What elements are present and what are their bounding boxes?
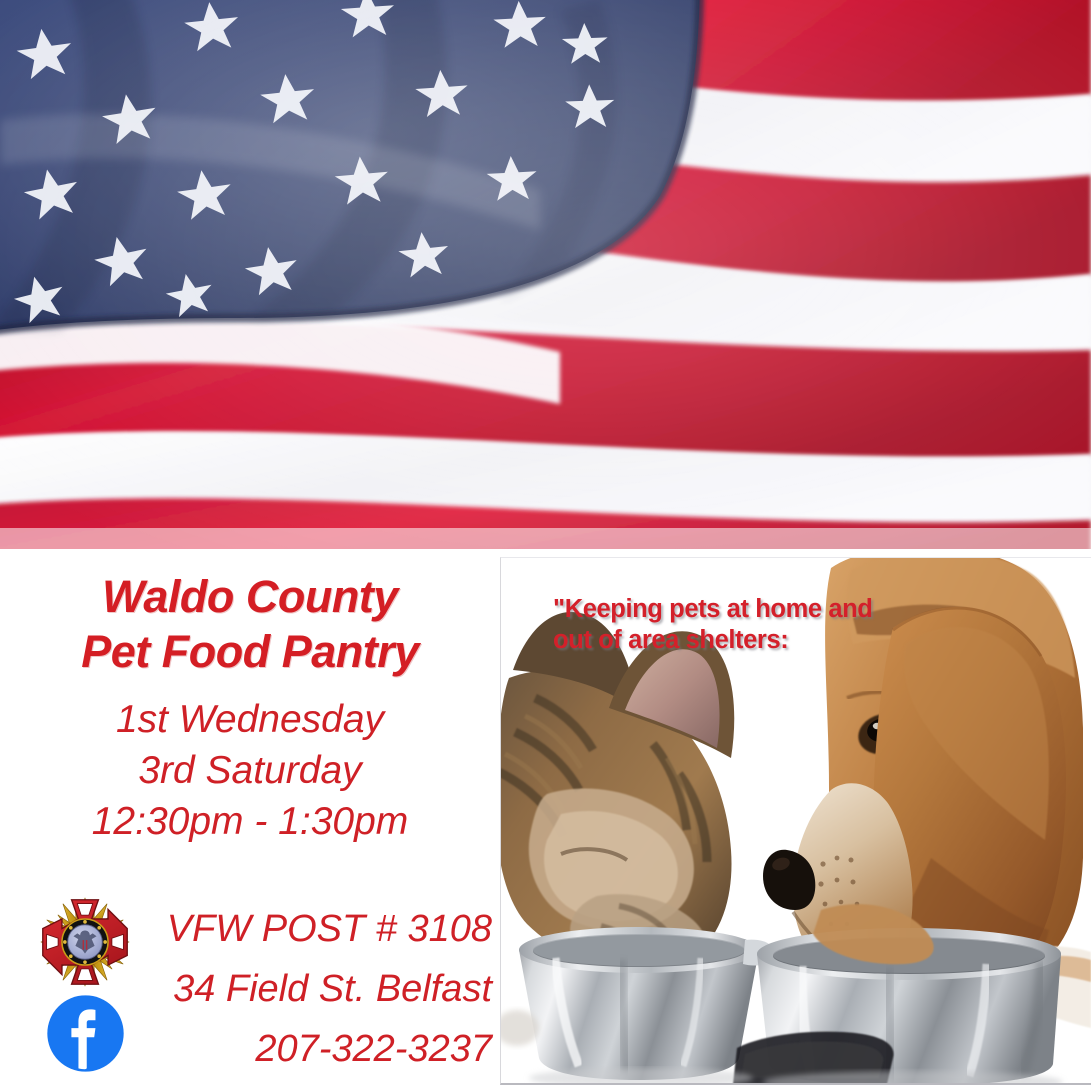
schedule-line-3: 12:30pm - 1:30pm — [0, 796, 500, 847]
american-flag-photo — [0, 0, 1091, 549]
contact-block: VFW POST # 3108 34 Field St. Belfast 207… — [130, 899, 492, 1079]
title-line-2: Pet Food Pantry — [0, 624, 500, 679]
pet-food-pantry-flyer: Waldo County Pet Food Pantry 1st Wednesd… — [0, 0, 1091, 1091]
vfw-cross-emblem-icon[interactable] — [37, 894, 133, 990]
american-flag-banner — [0, 0, 1091, 549]
schedule-line-1: 1st Wednesday — [0, 694, 500, 745]
vfw-post-line: VFW POST # 3108 — [130, 899, 492, 959]
schedule-block: 1st Wednesday 3rd Saturday 12:30pm - 1:3… — [0, 694, 500, 847]
cat-and-dog-photo-frame: "Keeping pets at home and out of area sh… — [500, 557, 1091, 1085]
cat-and-dog-eating-photo — [501, 558, 1091, 1084]
address-line: 34 Field St. Belfast — [130, 959, 492, 1019]
page-title: Waldo County Pet Food Pantry — [0, 569, 500, 679]
title-line-1: Waldo County — [0, 569, 500, 624]
info-column: Waldo County Pet Food Pantry 1st Wednesd… — [0, 549, 500, 1091]
phone-line[interactable]: 207-322-3237 — [130, 1019, 492, 1079]
schedule-line-2: 3rd Saturday — [0, 745, 500, 796]
flyer-body: Waldo County Pet Food Pantry 1st Wednesd… — [0, 549, 1091, 1091]
facebook-icon[interactable] — [44, 992, 127, 1075]
logo-stack — [30, 894, 140, 1091]
